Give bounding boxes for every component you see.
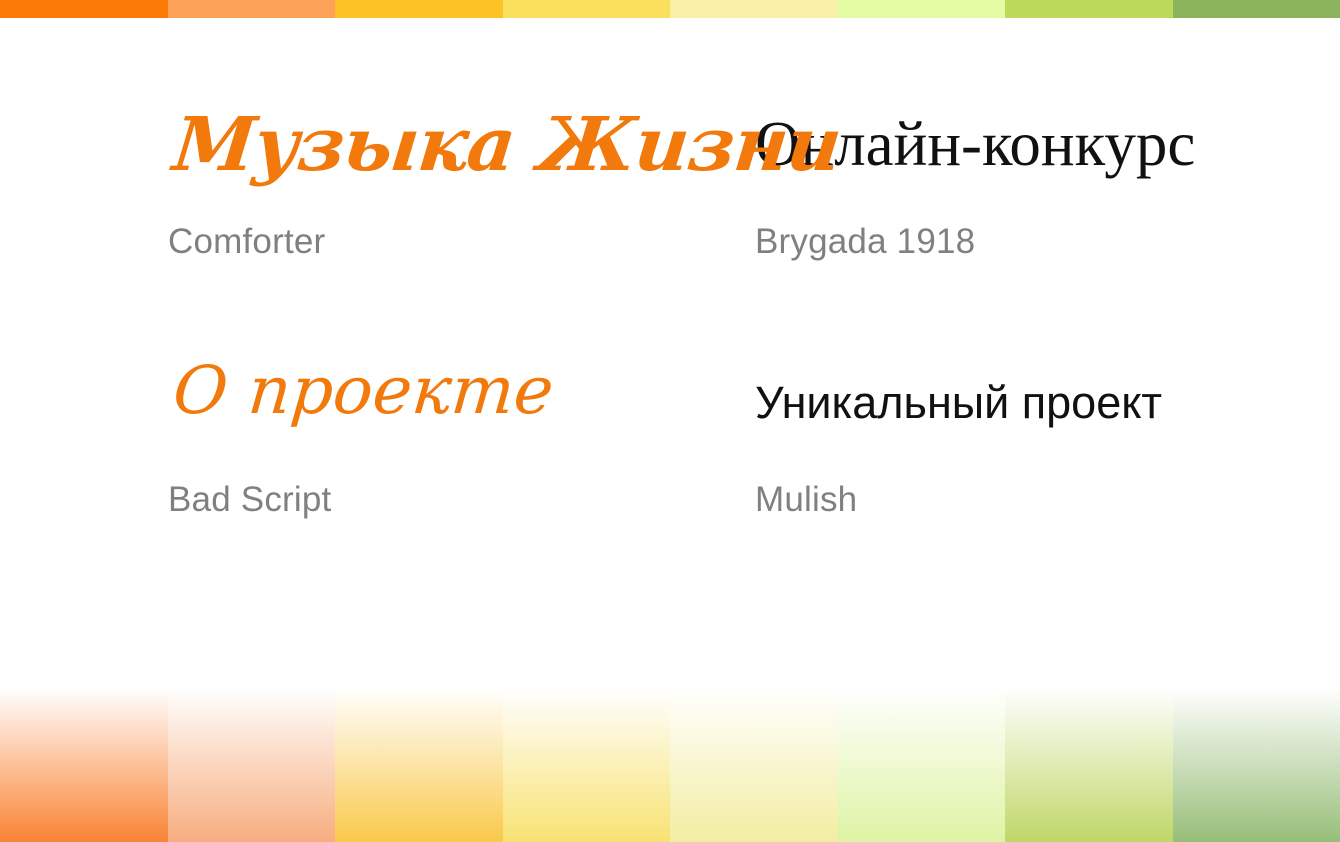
top-palette-strip [0, 0, 1340, 18]
font-sample-text-bad-script: О проекте [168, 358, 763, 454]
font-sample-text-comforter: Музыка Жизни [168, 108, 765, 200]
font-name-label-brygada: Brygada 1918 [755, 222, 1268, 262]
palette-swatch-top-2 [168, 0, 336, 18]
font-specimen-comforter: Музыка Жизни Comforter [168, 108, 755, 262]
palette-swatch-top-5 [670, 0, 838, 18]
palette-gradient-swatch-6 [838, 678, 1006, 842]
palette-gradient-swatch-3 [335, 678, 503, 842]
font-specimen-bad-script: О проекте Bad Script [168, 358, 755, 520]
palette-gradient-swatch-5 [670, 678, 838, 842]
palette-gradient-swatch-7 [1005, 678, 1173, 842]
palette-swatch-top-1 [0, 0, 168, 18]
font-specimen-row-2: О проекте Bad Script Уникальный проект M… [168, 358, 1268, 520]
palette-swatch-top-3 [335, 0, 503, 18]
font-specimen-row-1: Музыка Жизни Comforter Онлайн-конкурс Br… [168, 108, 1268, 262]
palette-gradient-swatch-4 [503, 678, 671, 842]
font-name-label-comforter: Comforter [168, 222, 755, 262]
font-name-label-mulish: Mulish [755, 480, 1268, 520]
palette-gradient-swatch-1 [0, 678, 168, 842]
palette-swatch-top-8 [1173, 0, 1340, 18]
font-specimen-grid: Музыка Жизни Comforter Онлайн-конкурс Br… [168, 108, 1268, 520]
palette-swatch-top-6 [838, 0, 1006, 18]
font-sample-text-mulish: Уникальный проект [755, 358, 1268, 454]
palette-swatch-top-7 [1005, 0, 1173, 18]
palette-swatch-top-4 [503, 0, 671, 18]
font-name-label-bad-script: Bad Script [168, 480, 755, 520]
typography-style-guide-slide: Музыка Жизни Comforter Онлайн-конкурс Br… [0, 0, 1340, 842]
palette-gradient-swatch-8 [1173, 678, 1340, 842]
palette-gradient-swatch-2 [168, 678, 336, 842]
font-specimen-mulish: Уникальный проект Mulish [755, 358, 1268, 520]
bottom-palette-gradient-strip [0, 678, 1340, 842]
